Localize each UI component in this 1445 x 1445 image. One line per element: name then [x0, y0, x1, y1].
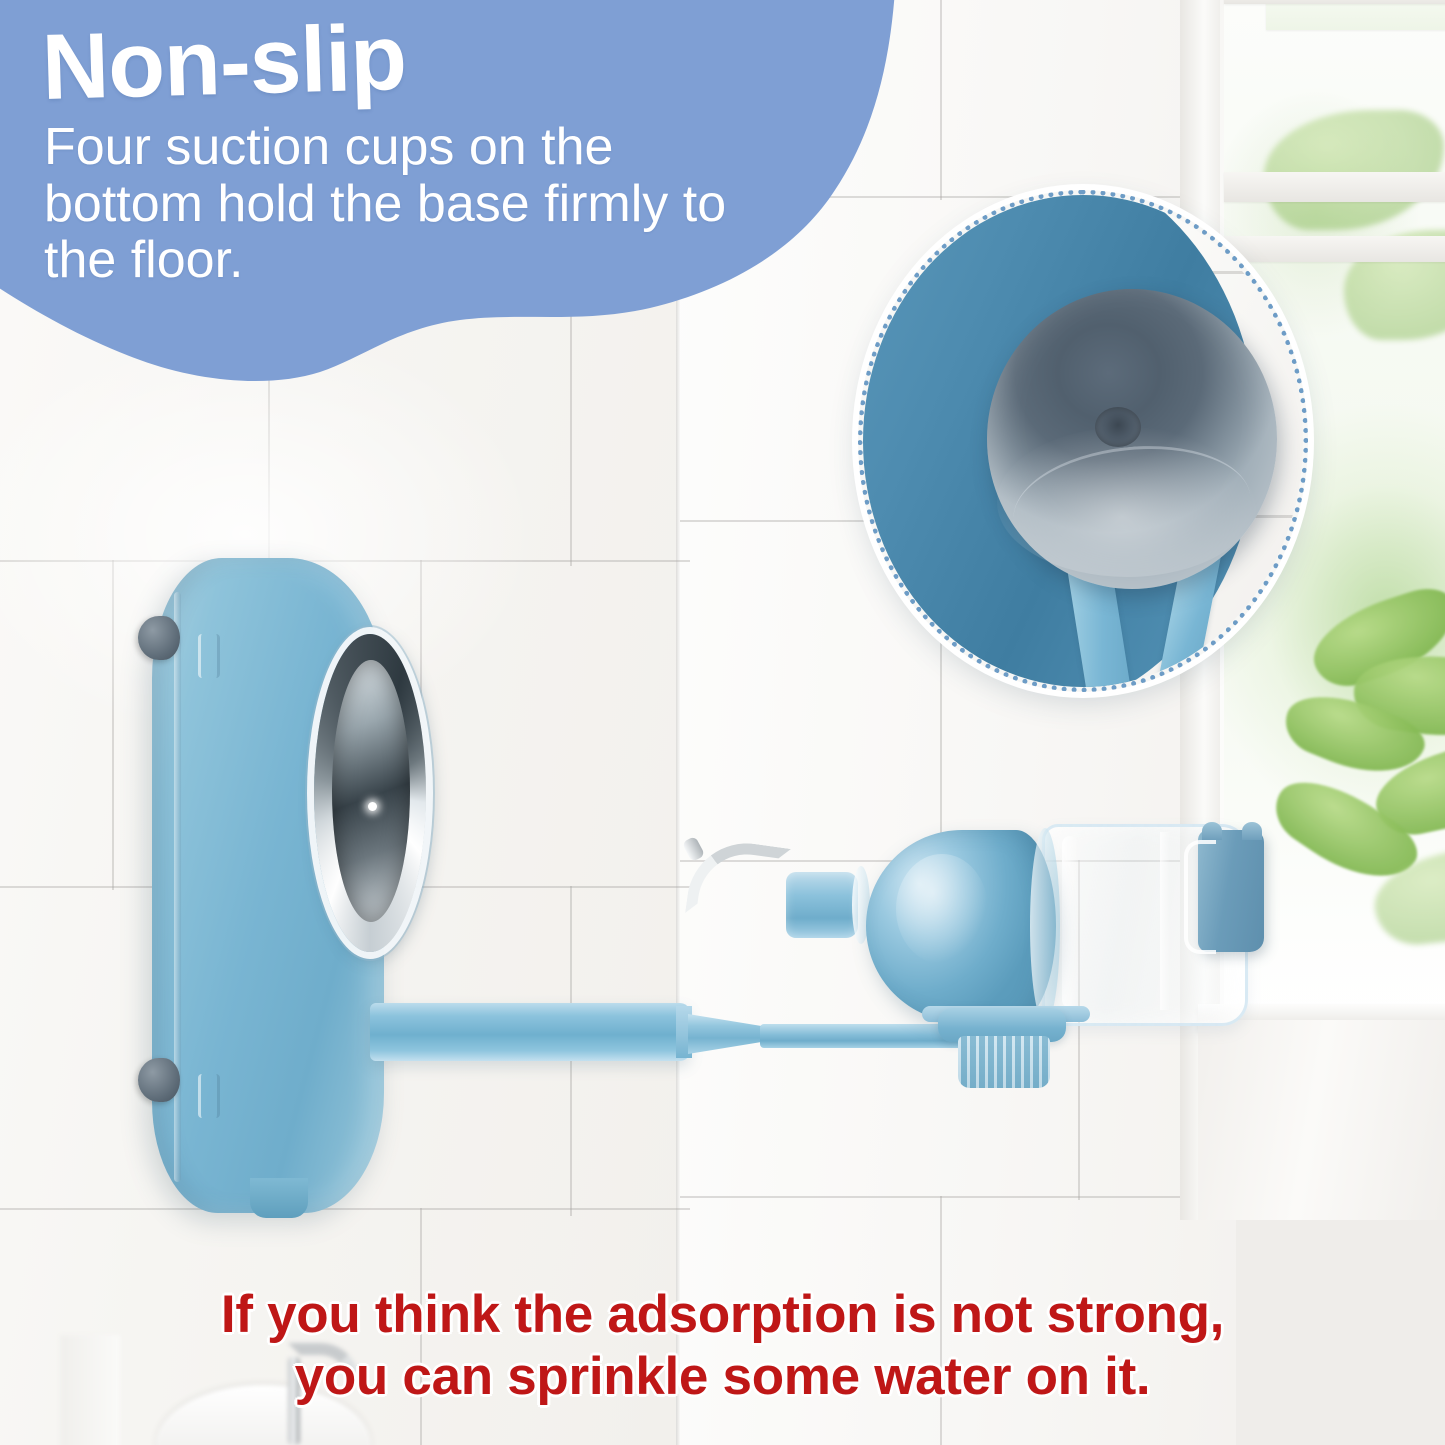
grout-line-v	[112, 560, 114, 890]
footer-line-1: If you think the adsorption is not stron…	[0, 1284, 1445, 1345]
base-vent-slot	[198, 1074, 220, 1118]
chrome-glint	[368, 802, 377, 811]
wall-base-unit	[138, 558, 398, 1218]
callout-headline: Non-slip	[41, 1, 803, 113]
bracket-ear	[1202, 822, 1222, 840]
callout-copy: Non-slip Four suction cups on the bottom…	[42, 22, 802, 289]
metal-drinking-spout	[690, 842, 794, 934]
suction-cup-closeup-inset	[858, 190, 1308, 692]
window-sash-rail	[1224, 0, 1445, 4]
grout-line-h	[680, 1196, 1240, 1198]
spout-collar	[786, 872, 858, 938]
product-infographic: Non-slip Four suction cups on the bottom…	[0, 0, 1445, 1445]
base-bottom-tab	[250, 1178, 308, 1218]
inset-content	[858, 190, 1308, 692]
footer-note: If you think the adsorption is not stron…	[0, 1284, 1445, 1407]
suction-cup-center-pip	[1095, 407, 1141, 447]
grout-line-v	[940, 0, 942, 200]
dome-rim	[1030, 828, 1060, 1024]
bracket-clip	[1184, 840, 1216, 954]
bottle-assembly	[690, 820, 1270, 1110]
footer-line-2: you can sprinkle some water on it.	[0, 1346, 1445, 1407]
base-vent-slot	[198, 634, 220, 678]
bracket-ear	[1242, 822, 1262, 840]
dome-highlight	[896, 854, 988, 964]
bottle-highlight	[1062, 836, 1078, 1008]
threaded-nozzle	[958, 1036, 1050, 1088]
window-pane-upper	[1266, 0, 1445, 30]
telescoping-arm	[370, 1003, 690, 1061]
bottle-highlight	[1160, 832, 1170, 1010]
rubber-nub-foot	[138, 616, 180, 660]
chrome-bowl-inner	[332, 660, 410, 922]
callout-body: Four suction cups on the bottom hold the…	[44, 119, 774, 289]
rubber-nub-foot	[138, 1058, 180, 1102]
